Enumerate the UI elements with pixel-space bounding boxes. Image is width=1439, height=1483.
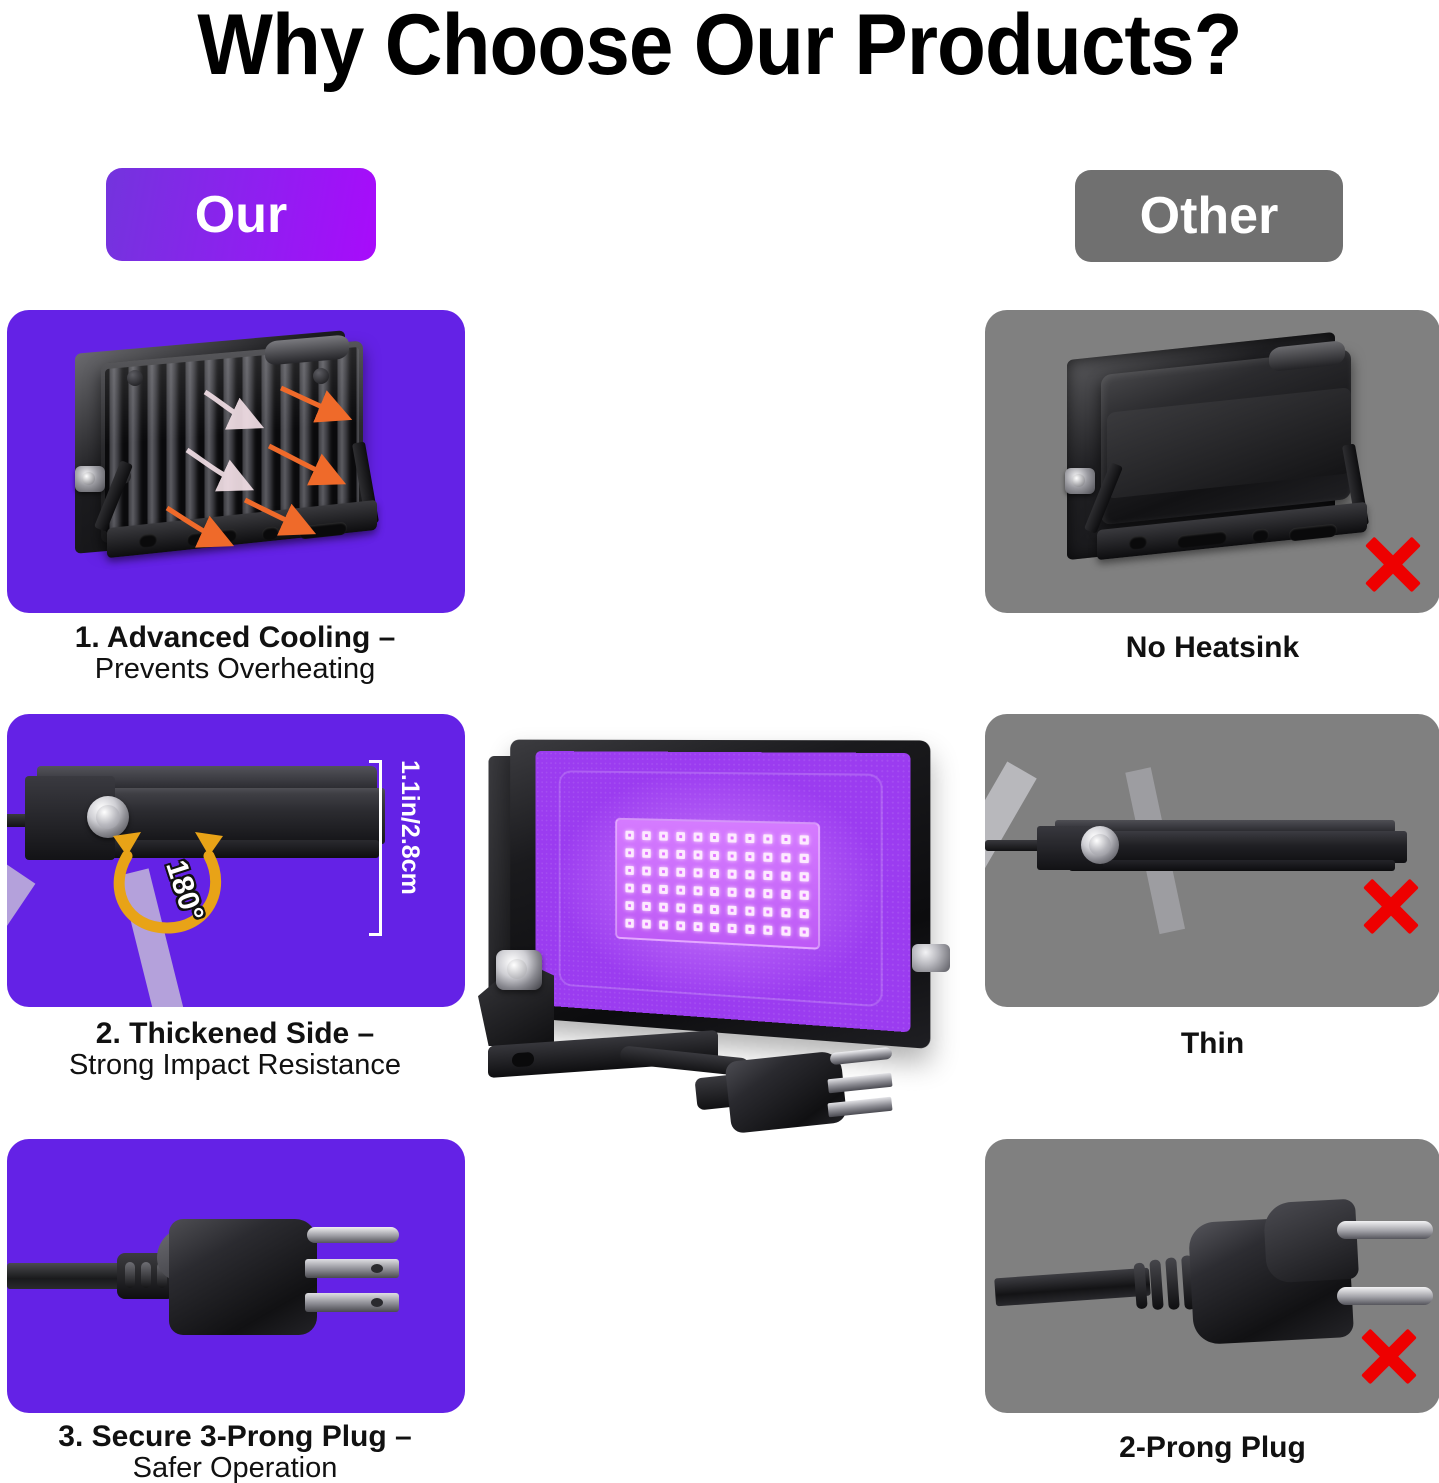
badge-our-label: Our bbox=[195, 185, 287, 245]
red-x-icon bbox=[1364, 535, 1422, 593]
panel-ours-advanced-cooling bbox=[7, 310, 465, 613]
panel-ours-thickened-side: 180° 1.1in/2.8cm bbox=[7, 714, 465, 1007]
badge-other-label: Other bbox=[1140, 186, 1279, 246]
panel-other-thin bbox=[985, 714, 1439, 1007]
dimension-bracket bbox=[369, 760, 382, 936]
caption-line-1: 2. Thickened Side – bbox=[0, 1018, 470, 1050]
blade-pin bbox=[305, 1259, 399, 1278]
heat-arrow-icon bbox=[167, 508, 225, 542]
caption-line-1: Thin bbox=[985, 1028, 1439, 1060]
uv-lens bbox=[535, 751, 910, 1032]
panel-other-two-prong-plug bbox=[985, 1139, 1439, 1413]
plug-nose bbox=[1263, 1199, 1359, 1284]
panel-ours-three-prong-plug bbox=[7, 1139, 465, 1413]
floodlight-side-profile-thin bbox=[997, 814, 1417, 934]
blade-pin bbox=[305, 1293, 399, 1312]
badge-other: Other bbox=[1075, 170, 1343, 262]
pivot-knob bbox=[1081, 826, 1119, 864]
caption-ours-advanced-cooling: 1. Advanced Cooling – Prevents Overheati… bbox=[0, 622, 470, 685]
caption-line-1: 3. Secure 3-Prong Plug – bbox=[0, 1421, 470, 1453]
caption-other-no-heatsink: No Heatsink bbox=[985, 632, 1439, 664]
caption-line-1: No Heatsink bbox=[985, 632, 1439, 664]
led-chip-grid bbox=[615, 818, 820, 950]
red-x-icon bbox=[1362, 877, 1420, 935]
caption-other-thin: Thin bbox=[985, 1028, 1439, 1060]
infographic-root: Why Choose Our Products? Our Other bbox=[0, 0, 1439, 1483]
pivot-knob-left bbox=[496, 950, 542, 990]
caption-line-2: Strong Impact Resistance bbox=[0, 1050, 470, 1081]
floodlight-flat-back-illustration bbox=[1057, 340, 1387, 575]
heat-arrow-icon bbox=[269, 446, 337, 480]
pivot-knob bbox=[1065, 468, 1095, 494]
red-x-icon bbox=[1360, 1327, 1418, 1385]
plug-body bbox=[169, 1219, 317, 1335]
badge-our: Our bbox=[106, 168, 376, 261]
heat-arrow-icon bbox=[245, 500, 307, 530]
three-prong-plug bbox=[718, 1042, 888, 1138]
caption-line-1: 1. Advanced Cooling – bbox=[0, 622, 470, 654]
ground-pin bbox=[307, 1227, 399, 1243]
dimension-label: 1.1in/2.8cm bbox=[395, 760, 424, 895]
panel-other-no-heatsink bbox=[985, 310, 1439, 613]
pivot-knob-right bbox=[912, 944, 950, 972]
housing-bottom-edge bbox=[1069, 860, 1395, 871]
heat-arrow-icon bbox=[281, 388, 343, 416]
page-title: Why Choose Our Products? bbox=[50, 0, 1388, 95]
caption-line-2: Prevents Overheating bbox=[0, 654, 470, 685]
hero-product-image bbox=[470, 722, 970, 1142]
caption-line-1: 2-Prong Plug bbox=[985, 1432, 1439, 1464]
caption-ours-thickened-side: 2. Thickened Side – Strong Impact Resist… bbox=[0, 1018, 470, 1081]
caption-other-two-prong-plug: 2-Prong Plug bbox=[985, 1432, 1439, 1464]
round-pin bbox=[1337, 1287, 1433, 1305]
airflow-arrows bbox=[7, 310, 465, 613]
caption-ours-three-prong-plug: 3. Secure 3-Prong Plug – Safer Operation bbox=[0, 1421, 470, 1483]
caption-line-2: Safer Operation bbox=[0, 1453, 470, 1483]
air-arrow-icon bbox=[187, 450, 245, 486]
round-pin bbox=[1337, 1221, 1433, 1239]
air-arrow-icon bbox=[205, 392, 255, 424]
power-cord bbox=[994, 1268, 1151, 1307]
ground-pin bbox=[830, 1047, 893, 1065]
power-cord-stub bbox=[985, 840, 1045, 851]
three-prong-plug-illustration bbox=[7, 1197, 465, 1357]
